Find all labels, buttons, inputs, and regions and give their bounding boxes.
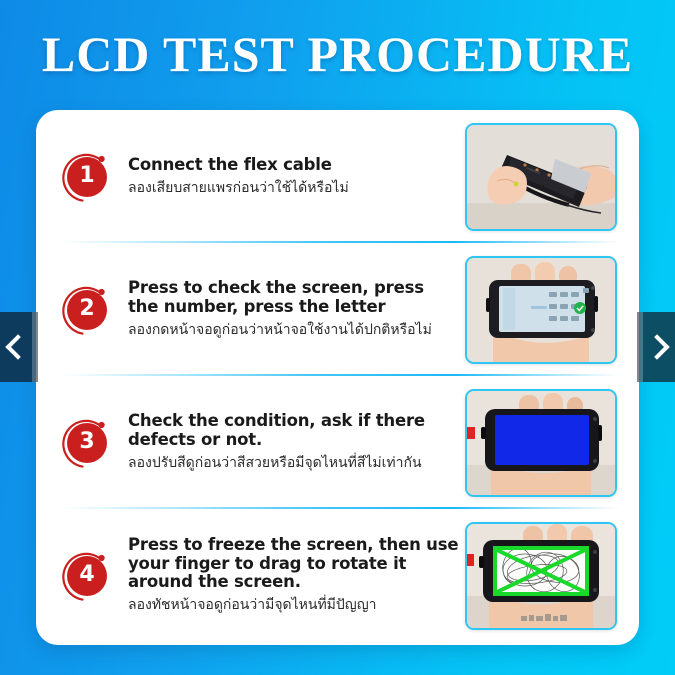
step-row[interactable]: 3 Check the condition, ask if there defe… bbox=[36, 376, 639, 509]
steps-card: 1 Connect the flex cable ลองเสียบสายแพรก… bbox=[36, 110, 639, 645]
step-badge: 1 bbox=[60, 150, 114, 204]
step-badge: 2 bbox=[60, 283, 114, 337]
step-number: 2 bbox=[79, 298, 94, 321]
step-text: Connect the flex cable ลองเสียบสายแพรก่อ… bbox=[128, 156, 465, 198]
badge-circle: 1 bbox=[67, 157, 107, 197]
step-title-th: ลองปรับสีดูก่อนว่าสีสวยหรือมีจุดไหนที่สี… bbox=[128, 455, 459, 473]
prev-slide-button[interactable] bbox=[0, 312, 32, 382]
photo-touch-drag-test-image bbox=[467, 524, 615, 628]
photo-dialer-keypad-test[interactable] bbox=[465, 256, 617, 364]
step-text: Press to check the screen, press the num… bbox=[128, 279, 465, 339]
badge-circle: 4 bbox=[67, 556, 107, 596]
step-badge: 3 bbox=[60, 416, 114, 470]
photo-touch-drag-test[interactable] bbox=[465, 522, 617, 630]
step-badge: 4 bbox=[60, 549, 114, 603]
photo-blue-screen-color-test-image bbox=[467, 391, 615, 495]
step-title-en: Press to check the screen, press the num… bbox=[128, 279, 459, 316]
step-title-en: Connect the flex cable bbox=[128, 156, 459, 174]
step-number: 1 bbox=[79, 165, 94, 188]
step-title-en: Check the condition, ask if there defect… bbox=[128, 412, 459, 449]
badge-circle: 2 bbox=[67, 290, 107, 330]
lcd-test-procedure-page: LCD TEST PROCEDURE 1 Connect the flex ca… bbox=[0, 0, 675, 675]
photo-connect-flex-cable-image bbox=[467, 125, 615, 229]
step-text: Press to freeze the screen, then use you… bbox=[128, 536, 465, 615]
chevron-left-icon bbox=[5, 334, 30, 359]
photo-blue-screen-color-test[interactable] bbox=[465, 389, 617, 497]
next-slide-button[interactable] bbox=[643, 312, 675, 382]
chevron-right-icon bbox=[644, 334, 669, 359]
photo-connect-flex-cable[interactable] bbox=[465, 123, 617, 231]
step-number: 3 bbox=[79, 431, 94, 454]
step-title-th: ลองเสียบสายแพรก่อนว่าใช้ได้หรือไม่ bbox=[128, 180, 459, 198]
step-title-en: Press to freeze the screen, then use you… bbox=[128, 536, 459, 591]
step-row[interactable]: 4 Press to freeze the screen, then use y… bbox=[36, 509, 639, 642]
step-title-th: ลองกดหน้าจอดูก่อนว่าหน้าจอใช้งานได้ปกติห… bbox=[128, 322, 459, 340]
step-number: 4 bbox=[79, 564, 94, 587]
page-title: LCD TEST PROCEDURE bbox=[0, 25, 675, 83]
photo-dialer-keypad-test-image bbox=[467, 258, 615, 362]
badge-circle: 3 bbox=[67, 423, 107, 463]
steps-list: 1 Connect the flex cable ลองเสียบสายแพรก… bbox=[36, 110, 639, 645]
step-title-th: ลองทัชหน้าจอดูก่อนว่ามีจุดไหนที่มีปัญญา bbox=[128, 597, 459, 615]
step-row[interactable]: 2 Press to check the screen, press the n… bbox=[36, 243, 639, 376]
step-row[interactable]: 1 Connect the flex cable ลองเสียบสายแพรก… bbox=[36, 110, 639, 243]
step-text: Check the condition, ask if there defect… bbox=[128, 412, 465, 472]
